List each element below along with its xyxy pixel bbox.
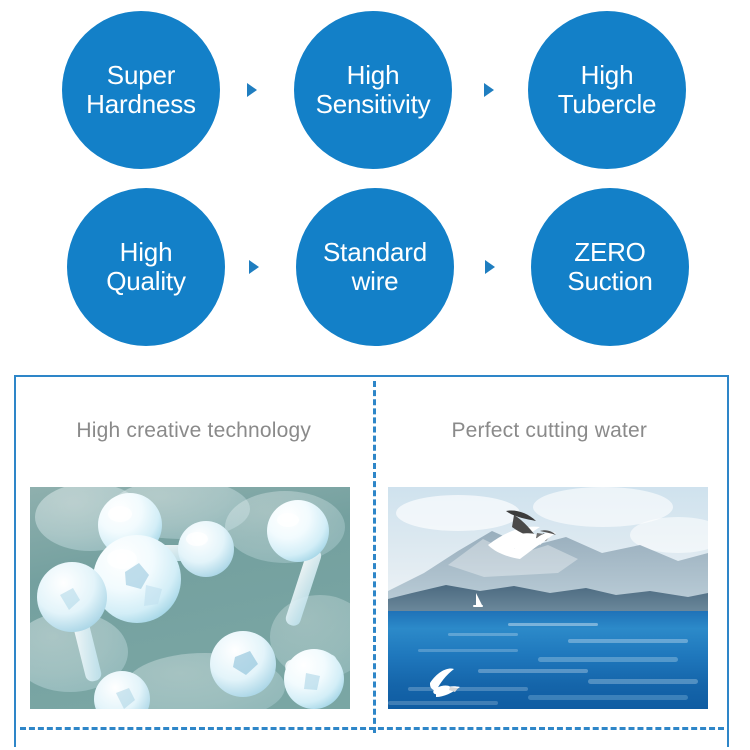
feature-circle-high-tubercle[interactable]: High Tubercle: [528, 11, 686, 169]
feature-flow-row-2: High Quality Standard wire ZERO Suction: [0, 180, 750, 360]
feature-circle-super-hardness[interactable]: Super Hardness: [62, 11, 220, 169]
water-molecule-photo: [30, 487, 350, 709]
showcase-title-right: Perfect cutting water: [372, 419, 728, 443]
panel-horizontal-divider: [20, 727, 724, 730]
panel-vertical-divider: [373, 381, 376, 733]
feature-circle-label: ZERO Suction: [563, 238, 656, 296]
feature-flow-row-1: Super Hardness High Sensitivity High Tub…: [0, 0, 750, 180]
feature-circle-label: High Quality: [102, 238, 190, 296]
showcase-panel: High creative technology: [14, 375, 729, 747]
showcase-column-right: Perfect cutting water: [372, 377, 728, 747]
seascape-illustration: [388, 487, 708, 709]
feature-circle-label: High Sensitivity: [312, 61, 435, 119]
triangle-right-icon: [249, 260, 259, 274]
feature-circle-high-sensitivity[interactable]: High Sensitivity: [294, 11, 452, 169]
showcase-title-left: High creative technology: [16, 419, 372, 443]
feature-circle-zero-suction[interactable]: ZERO Suction: [531, 188, 689, 346]
triangle-right-icon: [247, 83, 257, 97]
showcase-column-left: High creative technology: [16, 377, 372, 747]
feature-circle-standard-wire[interactable]: Standard wire: [296, 188, 454, 346]
product-feature-graphic: Super Hardness High Sensitivity High Tub…: [0, 0, 750, 750]
triangle-right-icon: [484, 83, 494, 97]
feature-circle-label: Super Hardness: [82, 61, 200, 119]
feature-circle-label: High Tubercle: [554, 61, 661, 119]
feature-circle-label: Standard wire: [319, 238, 431, 296]
triangle-right-icon: [485, 260, 495, 274]
feature-circle-high-quality[interactable]: High Quality: [67, 188, 225, 346]
seascape-photo: [388, 487, 708, 709]
water-molecule-illustration: [30, 487, 350, 709]
